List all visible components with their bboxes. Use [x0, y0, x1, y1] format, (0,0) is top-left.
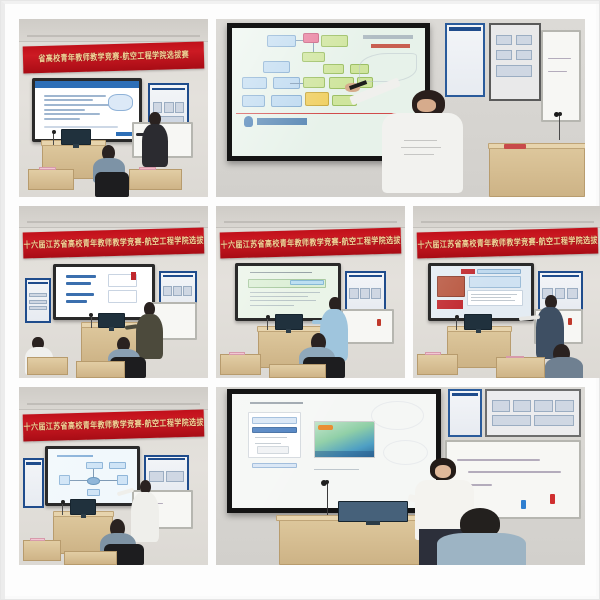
photo-2-scene	[216, 19, 585, 197]
wall-poster-right	[485, 389, 581, 437]
microphone	[327, 483, 329, 515]
wall-poster-right	[489, 23, 541, 101]
microphone	[91, 316, 92, 328]
photo-3[interactable]: 第十六届江苏省高校青年教师教学竞赛-航空工程学院选拔赛	[19, 206, 208, 378]
collage-row-2: 第十六届江苏省高校青年教师教学竞赛-航空工程学院选拔赛	[19, 206, 583, 378]
wall-poster-left	[445, 23, 486, 98]
desk-object	[504, 144, 526, 149]
slide-header	[35, 81, 139, 88]
podium	[489, 147, 585, 197]
banner-text: 第十六届江苏省高校青年教师教学竞赛-航空工程学院选拔赛	[22, 234, 204, 252]
event-banner: 第十六届江苏省高校青年教师教学竞赛-航空工程学院选拔赛	[416, 228, 598, 259]
presenter-face	[435, 465, 452, 477]
podium-monitor	[275, 314, 303, 329]
photo-1-scene: 省高校青年教师教学竞赛-航空工程学院选拔赛	[19, 19, 208, 197]
banner-text: 第十六届江苏省高校青年教师教学竞赛-航空工程学院选拔赛	[22, 416, 204, 434]
wall-poster-left	[23, 458, 44, 508]
ceiling-pipe	[27, 35, 201, 37]
collage-row-1: 省高校青年教师教学竞赛-航空工程学院选拔赛	[19, 19, 583, 197]
banner-text: 省高校青年教师教学竞赛-航空工程学院选拔赛	[38, 49, 189, 66]
whiteboard	[541, 30, 582, 123]
podium-monitor	[98, 313, 124, 328]
photo-3-scene: 第十六届江苏省高校青年教师教学竞赛-航空工程学院选拔赛	[19, 206, 208, 378]
photo-6[interactable]: 第十六届江苏省高校青年教师教学竞赛-航空工程学院选拔赛	[19, 387, 208, 565]
podium-monitor	[61, 129, 91, 145]
microphone	[456, 318, 457, 330]
photo-6-scene: 第十六届江苏省高校青年教师教学竞赛-航空工程学院选拔赛	[19, 387, 208, 565]
podium-monitor	[70, 499, 96, 515]
attendee-body	[437, 533, 526, 565]
magnet-blue	[521, 500, 526, 509]
ceiling	[19, 19, 208, 42]
wall-poster	[538, 271, 583, 312]
photo-5-scene: 第十六届江苏省高校青年教师教学竞赛-航空工程学院选拔赛	[413, 206, 600, 378]
event-banner: 第十六届江苏省高校青年教师教学竞赛-航空工程学院选拔赛	[22, 409, 204, 441]
wall-poster-left	[25, 278, 51, 323]
photo-5[interactable]: 第十六届江苏省高校青年教师教学竞赛-航空工程学院选拔赛	[413, 206, 600, 378]
desk-right	[129, 169, 182, 190]
projector-screen	[428, 263, 534, 321]
photo-collage: 省高校青年教师教学竞赛-航空工程学院选拔赛	[0, 0, 600, 600]
photo-7[interactable]	[216, 387, 585, 565]
photo-2[interactable]	[216, 19, 585, 197]
podium-monitor	[338, 501, 408, 522]
presenter-body	[131, 492, 159, 542]
desk	[28, 169, 73, 190]
event-banner: 第十六届江苏省高校青年教师教学竞赛-航空工程学院选拔赛	[22, 228, 204, 259]
projector-screen	[45, 446, 140, 507]
podium-monitor	[464, 314, 492, 329]
microphone	[53, 133, 54, 145]
presenter-body	[136, 314, 162, 359]
photo-4-scene: 第十六届江苏省高校青年教师教学竞赛-航空工程学院选拔赛	[216, 206, 405, 378]
presenter-face	[417, 99, 435, 111]
microphone	[62, 503, 63, 515]
collage-row-3: 第十六届江苏省高校青年教师教学竞赛-航空工程学院选拔赛	[19, 387, 583, 565]
wall-poster-left	[448, 389, 481, 437]
wall-poster	[345, 271, 387, 312]
microphone	[267, 318, 268, 330]
event-banner: 省高校青年教师教学竞赛-航空工程学院选拔赛	[22, 41, 204, 73]
magnet-red	[550, 494, 555, 504]
banner-text: 第十六届江苏省高校青年教师教学竞赛-航空工程学院选拔赛	[416, 234, 598, 252]
projector-screen	[53, 264, 155, 319]
whiteboard	[341, 309, 394, 343]
presenter-body	[142, 124, 168, 167]
event-banner: 第十六届江苏省高校青年教师教学竞赛-航空工程学院选拔赛	[219, 228, 401, 259]
photo-4[interactable]: 第十六届江苏省高校青年教师教学竞赛-航空工程学院选拔赛	[216, 206, 405, 378]
photo-7-scene	[216, 387, 585, 565]
chair	[95, 172, 129, 197]
microphone	[559, 115, 560, 140]
photo-1[interactable]: 省高校青年教师教学竞赛-航空工程学院选拔赛	[19, 19, 208, 197]
banner-text: 第十六届江苏省高校青年教师教学竞赛-航空工程学院选拔赛	[219, 234, 401, 252]
